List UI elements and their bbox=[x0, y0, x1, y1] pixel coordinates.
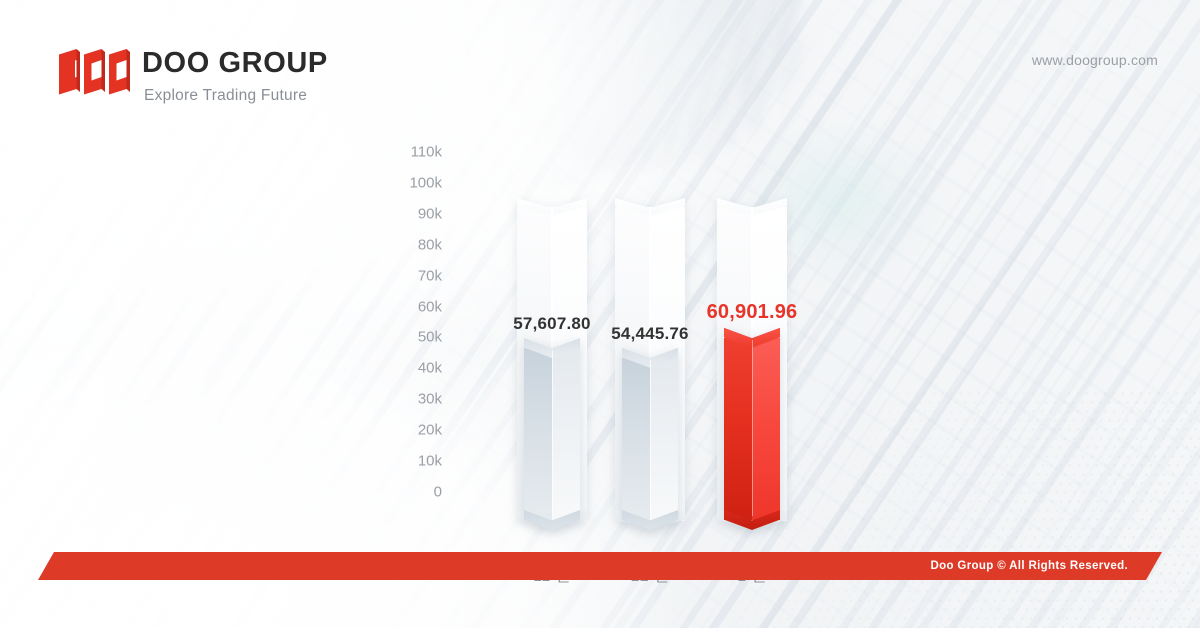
doo-logo-mark-icon bbox=[58, 48, 132, 96]
website-url[interactable]: www.doogroup.com bbox=[1032, 52, 1158, 68]
y-axis-tick: 0 bbox=[434, 485, 442, 500]
y-axis-tick: 30k bbox=[418, 392, 442, 407]
footer-copyright: Doo Group © All Rights Reserved. bbox=[930, 560, 1128, 572]
y-axis-tick: 50k bbox=[418, 330, 442, 345]
brand-tagline: Explore Trading Future bbox=[144, 87, 328, 105]
footer-band: Doo Group © All Rights Reserved. bbox=[38, 552, 1162, 580]
y-axis-tick: 60k bbox=[418, 299, 442, 314]
brand-name: DOO GROUP bbox=[142, 49, 328, 78]
bar-group[interactable]: 60,901.961 월 bbox=[724, 150, 780, 550]
bar-left-face bbox=[622, 358, 650, 520]
y-axis-tick: 70k bbox=[418, 268, 442, 283]
promo-banner: DOO GROUP Explore Trading Future www.doo… bbox=[0, 0, 1200, 628]
bar-right-face bbox=[552, 348, 580, 520]
brand-logo-text: DOO GROUP Explore Trading Future bbox=[142, 48, 328, 105]
y-axis-tick: 100k bbox=[409, 175, 442, 190]
bar-value-label: 54,445.76 bbox=[611, 324, 688, 344]
bar-center-edge bbox=[752, 340, 753, 516]
bar-right-face bbox=[752, 338, 780, 520]
bar-center-edge bbox=[650, 360, 651, 516]
y-axis-tick: 80k bbox=[418, 237, 442, 252]
bar-fill[interactable] bbox=[724, 328, 780, 530]
bar-center-edge bbox=[552, 350, 553, 516]
bar-value-label: 57,607.80 bbox=[513, 314, 590, 334]
bar-left-face bbox=[524, 348, 552, 520]
bar-value-label: 60,901.96 bbox=[707, 301, 798, 324]
bar-chart: 110k100k90k80k70k60k50k40k30k20k10k0 57,… bbox=[390, 150, 820, 550]
bar-group[interactable]: 57,607.8011 월 bbox=[524, 150, 580, 550]
bar-fill[interactable] bbox=[622, 348, 678, 530]
brand-logo[interactable]: DOO GROUP Explore Trading Future bbox=[58, 48, 328, 105]
bar-group[interactable]: 54,445.7612 월 bbox=[622, 150, 678, 550]
header: DOO GROUP Explore Trading Future www.doo… bbox=[0, 0, 1200, 130]
bar-fill[interactable] bbox=[524, 338, 580, 530]
y-axis-tick: 20k bbox=[418, 423, 442, 438]
bar-right-face bbox=[650, 358, 678, 520]
bar-left-face bbox=[724, 338, 752, 520]
plot-area: 57,607.8011 월54,445.7612 월60,901.961 월 bbox=[510, 150, 810, 550]
y-axis-tick: 10k bbox=[418, 454, 442, 469]
y-axis-tick: 40k bbox=[418, 361, 442, 376]
y-axis-tick: 90k bbox=[418, 206, 442, 221]
y-axis: 110k100k90k80k70k60k50k40k30k20k10k0 bbox=[390, 152, 442, 492]
y-axis-tick: 110k bbox=[411, 145, 442, 160]
